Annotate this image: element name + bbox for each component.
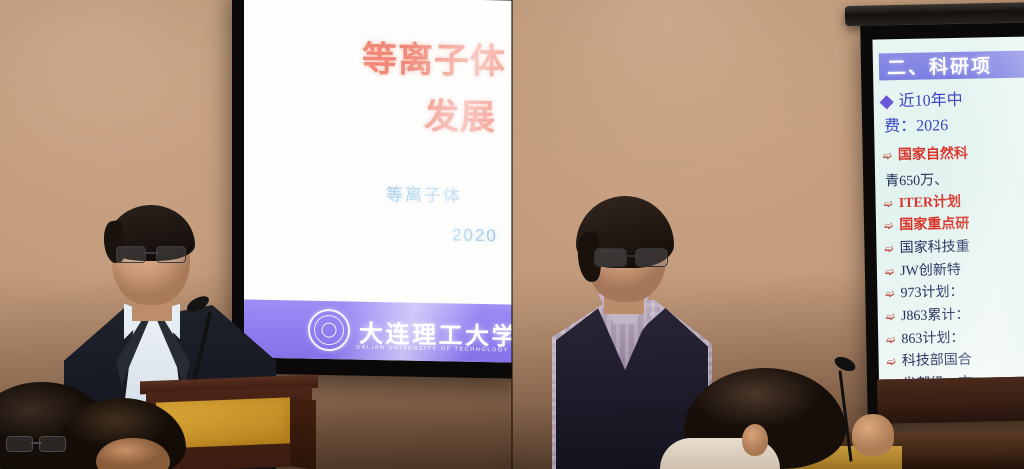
slide-bullet-4: ➫ 国家科技重 — [884, 237, 1024, 258]
slide-bullet-6: ➫ 973计划： — [885, 283, 1024, 304]
slide-body: 近10年中 费：2026 ➫ 国家自然科 青650万、 ➫ ITER计划 ➫ 国 — [881, 88, 1024, 375]
slide-lead-line-1: 近10年中 — [898, 90, 962, 114]
arrow-bullet-icon: ➫ — [884, 199, 893, 210]
slide-date: 2020 — [452, 225, 498, 246]
arrow-bullet-icon: ➫ — [885, 290, 894, 301]
screen-base-shadow — [877, 376, 1024, 423]
arrow-bullet-icon: ➫ — [884, 244, 893, 255]
slide-bullet-9: ➫ 科技部国合 — [886, 351, 1024, 372]
arrow-bullet-icon: ➫ — [883, 152, 892, 163]
audience-ear — [742, 424, 768, 456]
desk-microphone-icon — [822, 358, 882, 458]
arrow-bullet-icon: ➫ — [886, 312, 895, 323]
podium-side — [290, 396, 316, 469]
slide-title-line-2: 发展 — [424, 91, 496, 144]
arrow-bullet-icon: ➫ — [887, 358, 896, 369]
slide-lead-bullet: 近10年中 — [881, 88, 1024, 114]
presentation-slide-projects: 二、科研项 近10年中 费：2026 ➫ 国家自然科 青650万、 ➫ — [872, 36, 1024, 379]
panel-divider — [511, 0, 513, 469]
diamond-bullet-icon — [880, 95, 894, 109]
slide-title-bar: 二、科研项 — [879, 50, 1024, 80]
arrow-bullet-icon: ➫ — [885, 267, 894, 278]
slide-bullet-8: ➫ 863计划： — [886, 328, 1024, 349]
slide-bullet-2: ➫ ITER计划 — [883, 192, 1024, 213]
slide-section-title: 二、科研项 — [887, 51, 993, 80]
slide-bullet-7: ➫ J863累计： — [886, 305, 1024, 326]
photo-panel-right: 二、科研项 近10年中 费：2026 ➫ 国家自然科 青650万、 ➫ — [512, 0, 1024, 469]
slide-bullet-3: ➫ 国家重点研 — [884, 215, 1024, 236]
slide-bullet-5: ➫ JW创新特 — [885, 260, 1024, 281]
slide-lead-line-2: 费：2026 — [884, 113, 1024, 139]
slide-subtitle: 等离子体 — [386, 180, 462, 206]
screenshot-root: 等离子体 发展 等离子体 2020 大连理工大学 物 DALIAN UNIVER… — [0, 0, 1024, 469]
photo-panel-left: 等离子体 发展 等离子体 2020 大连理工大学 物 DALIAN UNIVER… — [0, 0, 512, 469]
slide-bullet-0: ➫ 国家自然科 — [883, 145, 1024, 166]
university-seal-icon — [308, 309, 350, 352]
audience-glasses-icon — [6, 436, 66, 452]
arrow-bullet-icon: ➫ — [886, 335, 895, 346]
slide-title-line-1: 等离子体 — [362, 34, 506, 89]
slide-bullet-1: 青650万、 — [885, 167, 1024, 190]
presenter-glasses-icon — [594, 248, 668, 265]
speaker-glasses-icon — [116, 246, 186, 261]
arrow-bullet-icon: ➫ — [884, 222, 893, 233]
projection-screen-right: 二、科研项 近10年中 费：2026 ➫ 国家自然科 青650万、 ➫ — [860, 22, 1024, 423]
